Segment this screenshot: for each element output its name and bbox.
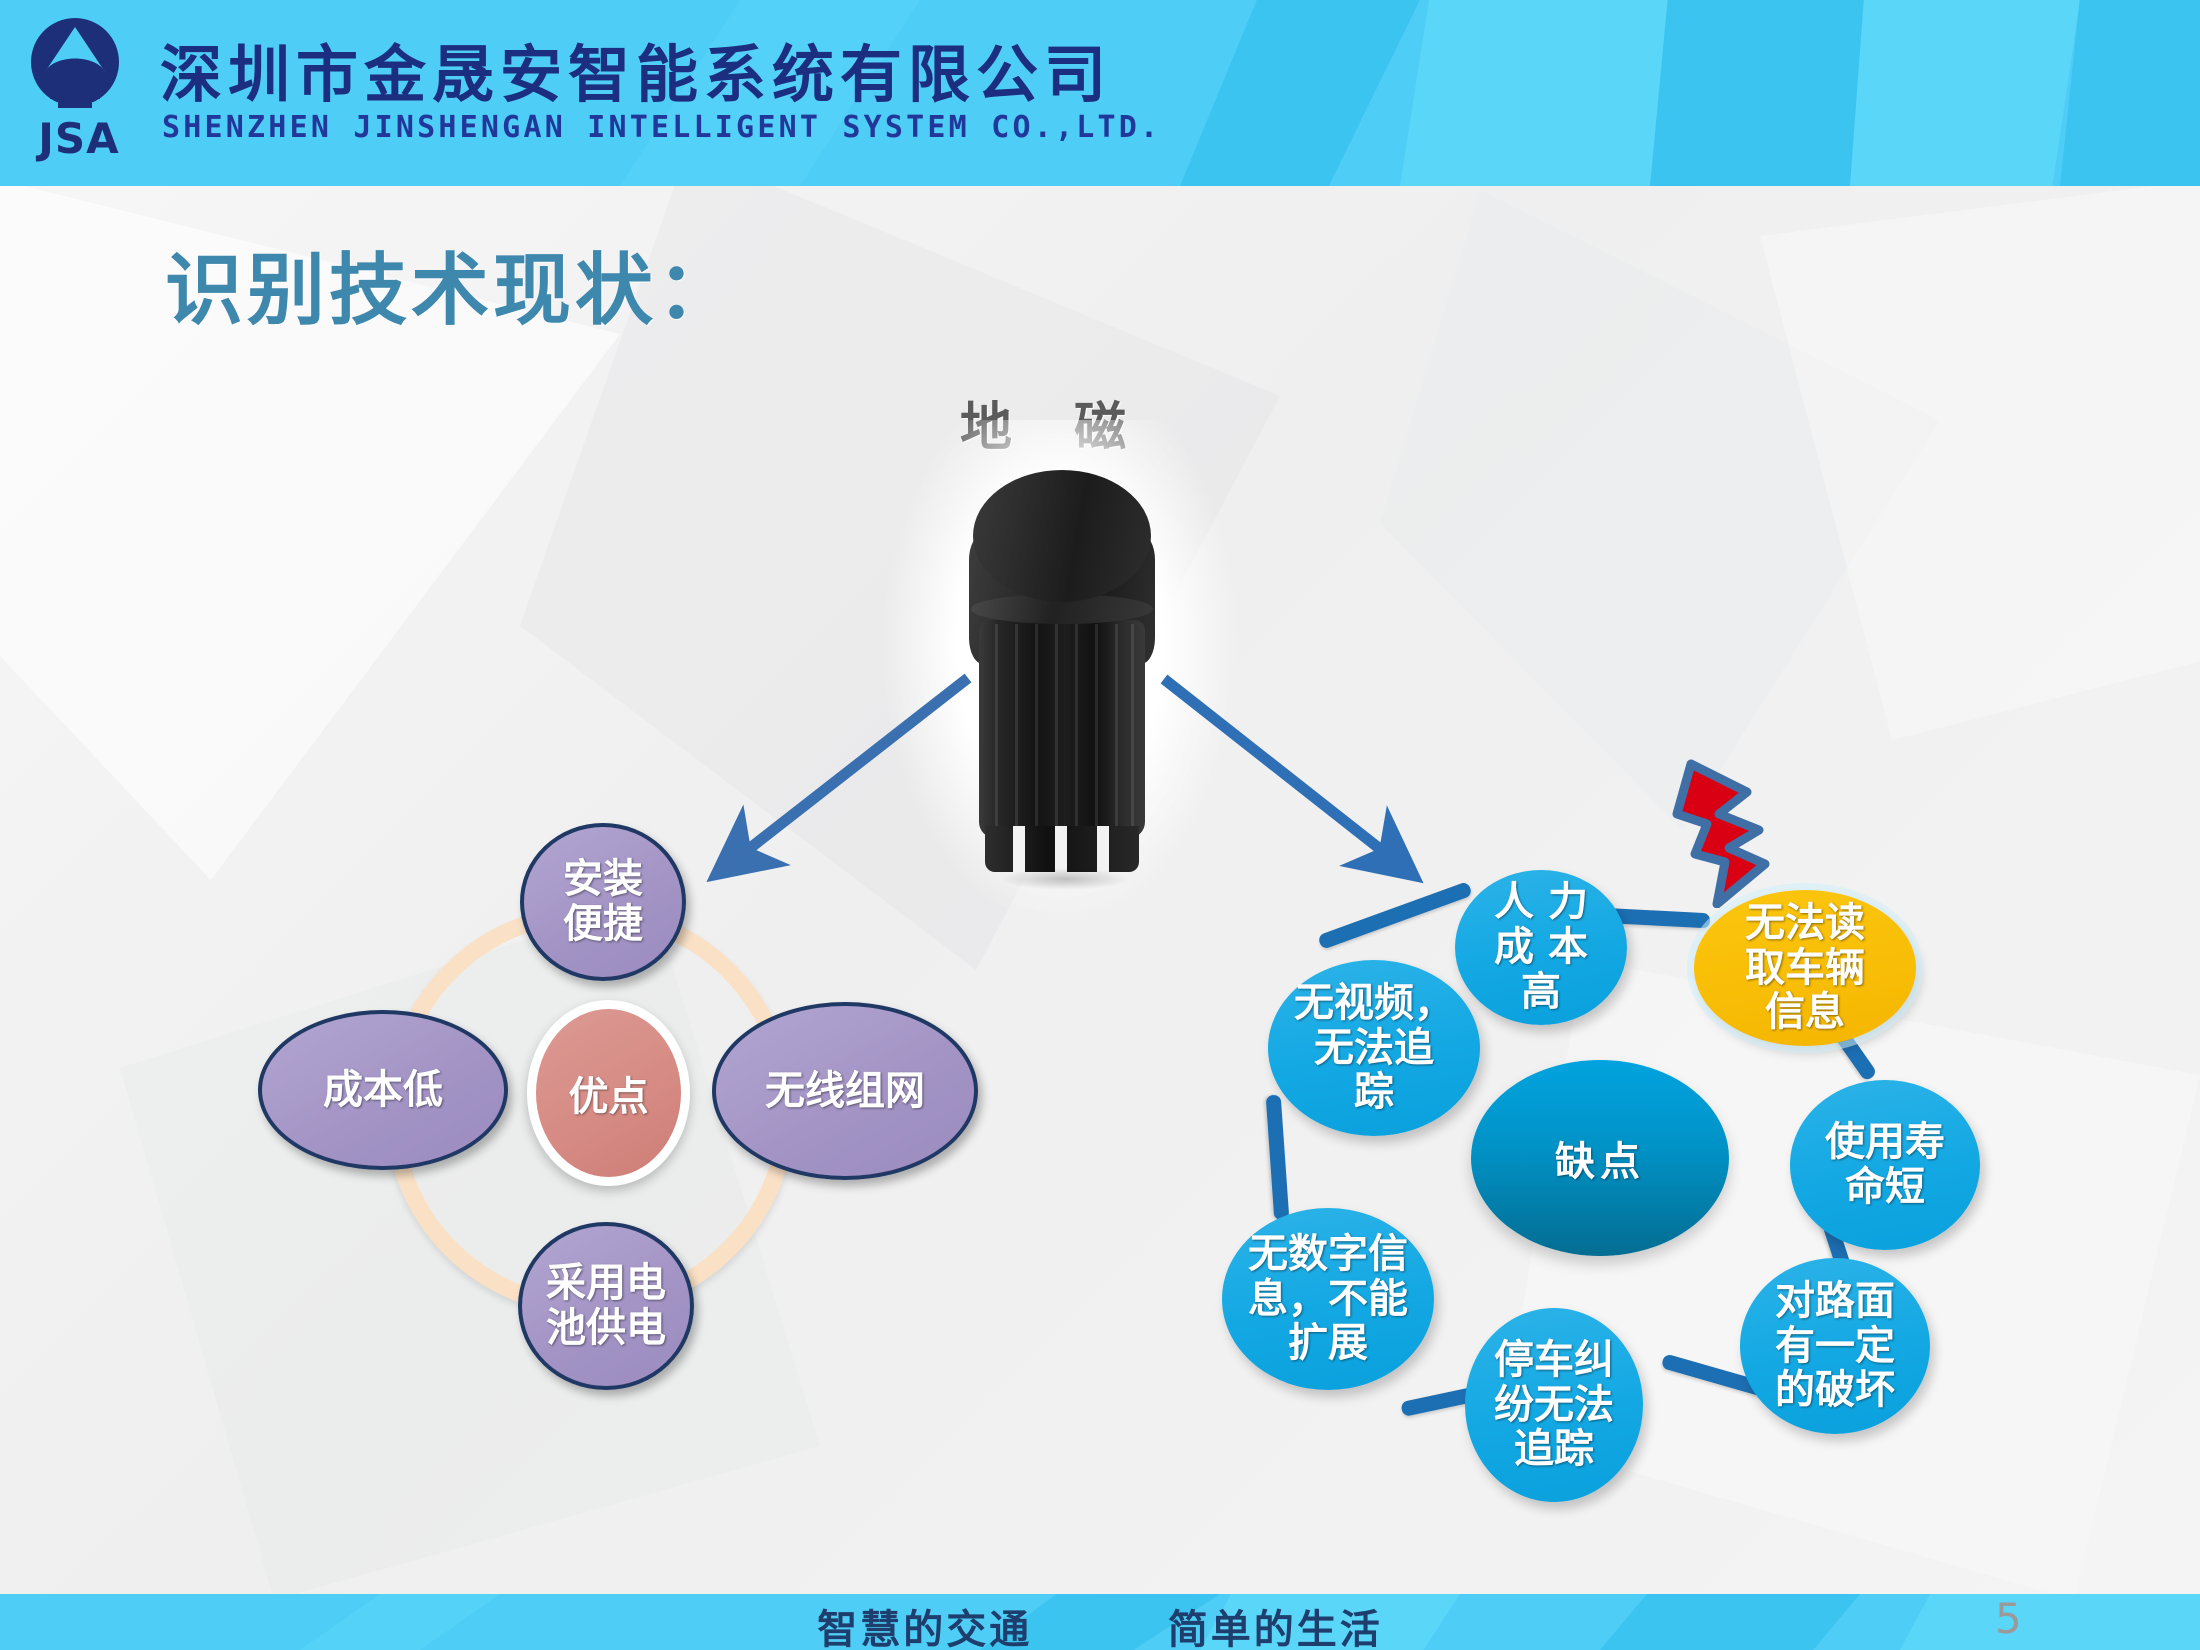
- pros-bubble-label: 安装 便捷: [563, 857, 643, 947]
- cons-bubble-road-damage[interactable]: 对路面 有一定 的破坏: [1740, 1258, 1930, 1434]
- cons-bubble-label: 对路面 有一定 的破坏: [1775, 1279, 1895, 1413]
- geomagnetic-sensor-image: [955, 470, 1165, 860]
- cons-bubble-no-digital-info[interactable]: 无数字信 息，不能 扩展: [1222, 1208, 1434, 1390]
- logo-initials: JSA: [24, 118, 134, 160]
- cons-bubble-dispute[interactable]: 停车纠 纷无法 追踪: [1465, 1308, 1643, 1502]
- header-facet: [1650, 0, 1870, 186]
- pros-bubble-bottom[interactable]: 采用电 池供电: [518, 1222, 694, 1390]
- header-banner: JSA 深圳市金晟安智能系统有限公司 SHENZHEN JINSHENGAN I…: [0, 0, 2200, 186]
- slide: JSA 深圳市金晟安智能系统有限公司 SHENZHEN JINSHENGAN I…: [0, 0, 2200, 1650]
- pros-center-bubble[interactable]: 优点: [527, 1000, 690, 1186]
- cons-bubble-label: 停车纠 纷无法 追踪: [1494, 1338, 1614, 1472]
- footer-slogan: 智慧的交通 简单的生活: [0, 1597, 2200, 1650]
- cons-bubble-label: 使用寿 命短: [1825, 1120, 1945, 1210]
- cons-bubble-vehicle-info[interactable]: 无法读 取车辆 信息: [1694, 890, 1916, 1046]
- company-name-en: SHENZHEN JINSHENGAN INTELLIGENT SYSTEM C…: [162, 110, 1161, 145]
- cons-bubble-label: 无法读 取车辆 信息: [1745, 901, 1865, 1035]
- company-logo: JSA: [14, 14, 132, 172]
- device-shadow: [1000, 868, 1130, 890]
- cons-center-label: 缺点: [1555, 1129, 1645, 1187]
- pros-center-label: 优点: [569, 1064, 649, 1122]
- header-facet: [1180, 0, 1420, 186]
- cons-bubble-label: 无视频， 无法追 踪: [1294, 981, 1454, 1115]
- pros-bubble-left[interactable]: 成本低: [258, 1010, 508, 1170]
- jsa-emblem-icon: [30, 14, 120, 122]
- pros-bubble-label: 无线组网: [765, 1069, 925, 1114]
- device-cap: [973, 470, 1151, 602]
- page-title: 识别技术现状：: [165, 228, 739, 340]
- page-number: 5: [1995, 1594, 2022, 1643]
- cons-bubble-human-cost[interactable]: 人 力 成 本 高: [1455, 870, 1627, 1025]
- device-body: [979, 620, 1145, 838]
- cons-bubble-label: 无数字信 息，不能 扩展: [1248, 1232, 1408, 1366]
- header-facet: [1850, 0, 2080, 186]
- header-facet: [2060, 0, 2200, 186]
- cons-center-bubble[interactable]: 缺点: [1471, 1060, 1729, 1256]
- cons-bubble-short-life[interactable]: 使用寿 命短: [1790, 1080, 1980, 1250]
- cons-bubble-label: 人 力 成 本 高: [1494, 880, 1588, 1014]
- cons-bubble-no-video[interactable]: 无视频， 无法追 踪: [1268, 960, 1480, 1136]
- arrow-to-cons: [1150, 665, 1470, 915]
- lightning-bolt-icon: [1655, 758, 1795, 908]
- arrow-to-pros: [660, 660, 980, 900]
- pros-bubble-right[interactable]: 无线组网: [712, 1002, 978, 1180]
- pros-bubble-top[interactable]: 安装 便捷: [520, 823, 686, 981]
- header-facet: [1400, 0, 1690, 186]
- pros-bubble-label: 采用电 池供电: [546, 1261, 666, 1351]
- company-name-cn: 深圳市金晟安智能系统有限公司: [160, 24, 1112, 114]
- pros-bubble-label: 成本低: [323, 1068, 443, 1113]
